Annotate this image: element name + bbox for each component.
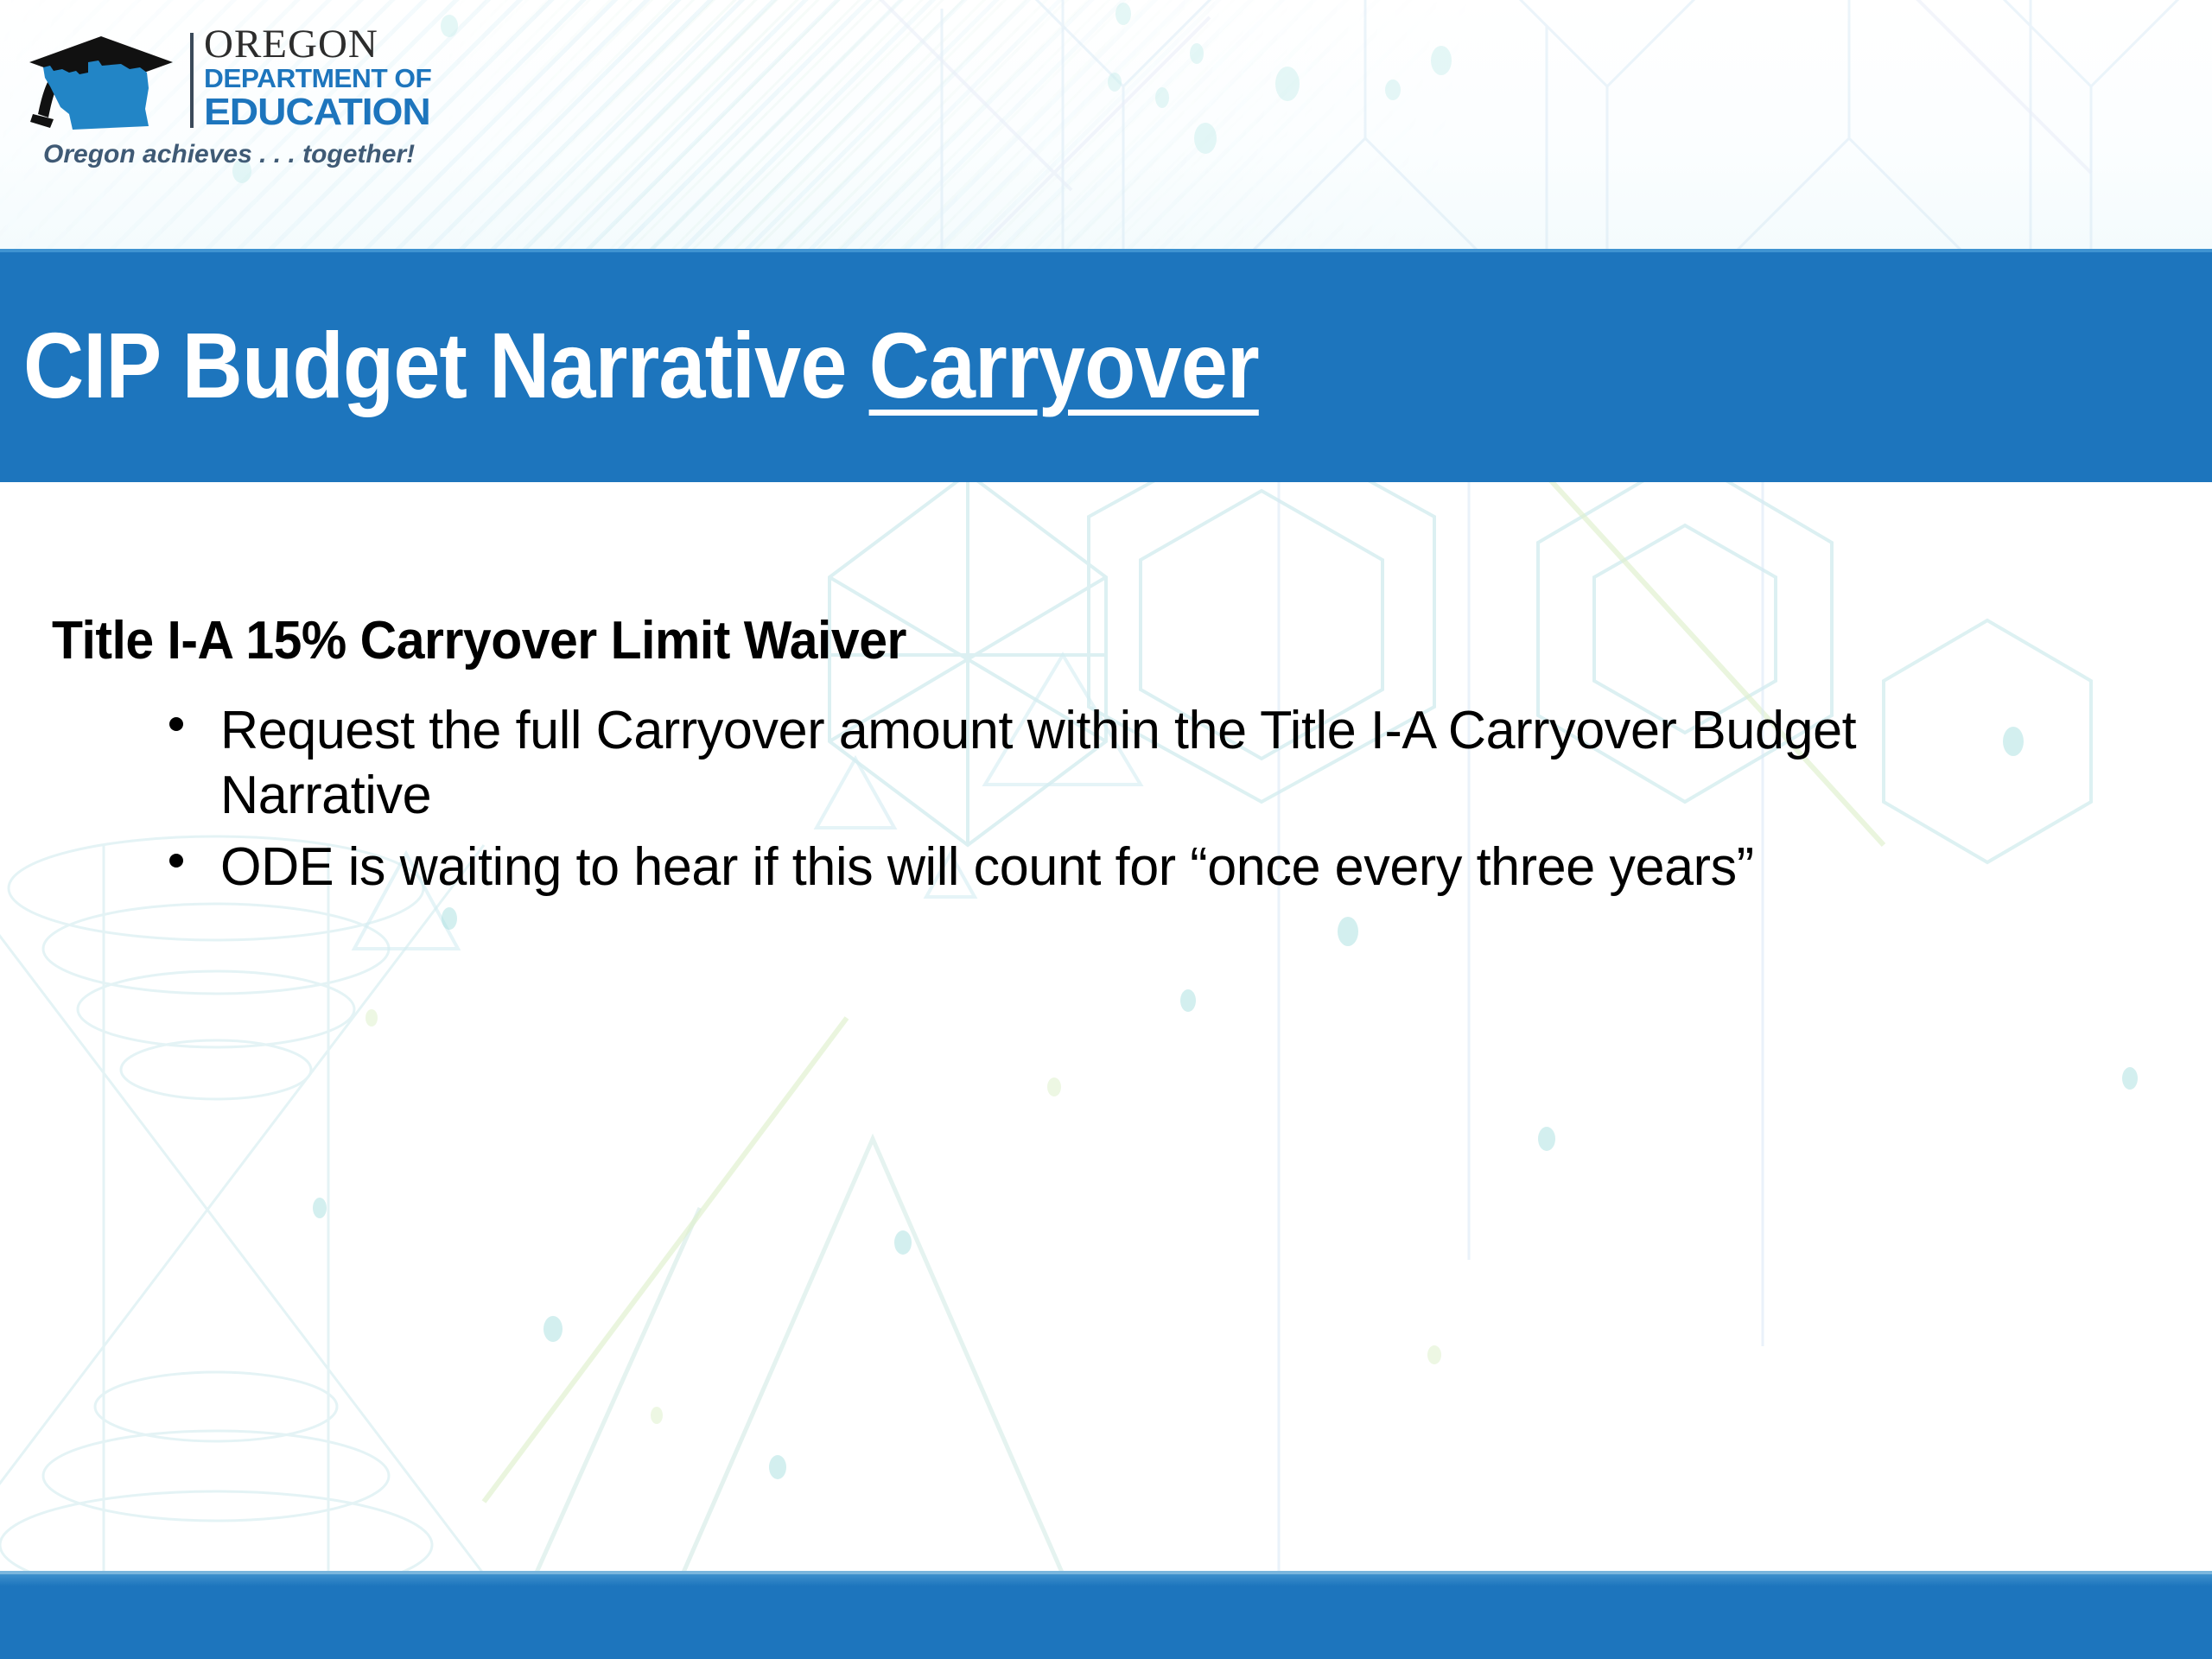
logo-line-department-of: DEPARTMENT OF — [204, 65, 435, 93]
list-item-text: ODE is waiting to hear if this will coun… — [220, 835, 2050, 899]
page-title-plain: CIP Budget Narrative — [23, 313, 869, 417]
slide-body: Title I-A 15% Carryover Limit Waiver Req… — [0, 482, 2212, 1574]
bullet-list: Request the full Carryover amount within… — [164, 698, 2177, 906]
logo-tagline: Oregon achieves . . . together! — [43, 140, 415, 169]
logo-line-oregon: OREGON — [204, 24, 430, 65]
bullet-dot-icon — [169, 717, 183, 731]
list-item: ODE is waiting to hear if this will coun… — [164, 835, 2177, 899]
page-title: CIP Budget Narrative Carryover — [0, 319, 1259, 412]
ode-logo: OREGON DEPARTMENT OF EDUCATION Oregon ac… — [19, 24, 425, 184]
slide: OREGON DEPARTMENT OF EDUCATION Oregon ac… — [0, 0, 2212, 1659]
slide-title-bar: CIP Budget Narrative Carryover — [0, 249, 2212, 482]
logo-divider — [190, 33, 194, 128]
list-item-text: Request the full Carryover amount within… — [220, 698, 2050, 828]
graduation-cap-oregon-state-icon — [19, 24, 183, 132]
title-bar-top-edge — [0, 249, 2212, 252]
header-band: OREGON DEPARTMENT OF EDUCATION Oregon ac… — [0, 0, 2212, 249]
page-title-emphasis: Carryover — [869, 313, 1259, 417]
footer-bar — [0, 1574, 2212, 1659]
bullet-dot-icon — [169, 854, 183, 868]
section-heading: Title I-A 15% Carryover Limit Waiver — [52, 612, 906, 671]
list-item: Request the full Carryover amount within… — [164, 698, 2177, 828]
logo-line-education: EDUCATION — [204, 93, 442, 132]
